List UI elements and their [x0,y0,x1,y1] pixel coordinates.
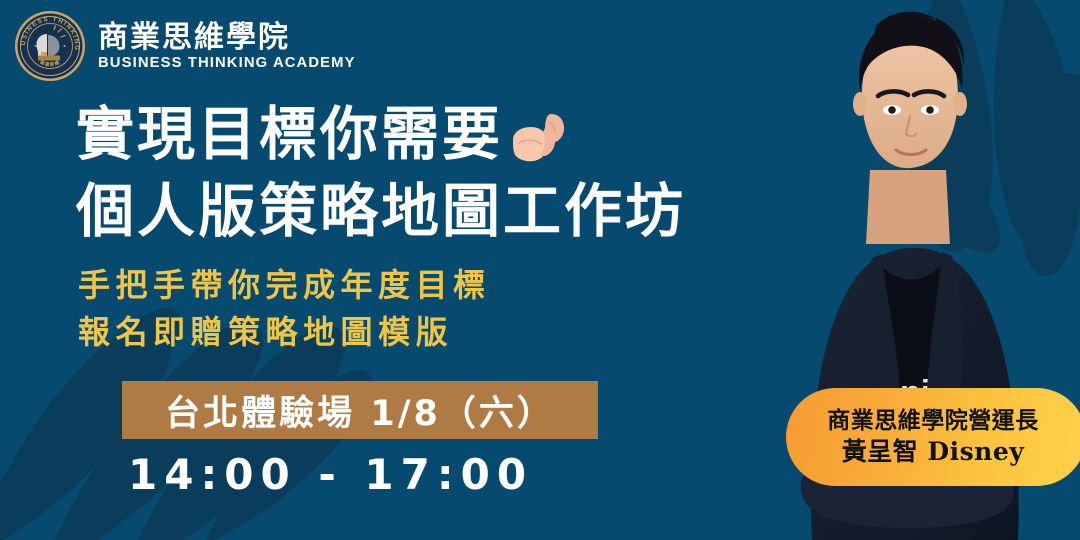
session-badge: 台北體驗場 1/8（六） [122,381,598,439]
academy-seal-svg: BUSINESS THINKING 商業思維 [14,10,86,82]
subtitle-block: 手把手帶你完成年度目標 報名即贈策略地圖模版 [78,262,491,357]
speaker-role: 商業思維學院營運長 [827,407,1039,434]
brand-logo-lockup: BUSINESS THINKING 商業思維 [14,10,351,82]
subtitle-line-1: 手把手帶你完成年度目標 [78,262,491,309]
session-time: 14:00 - 17:00 [128,450,533,499]
brand-name-en: BUSINESS THINKING ACADEMY [98,56,356,72]
brand-name-cn: 商業思維學院 [98,22,351,54]
headline-line-1: 實現目標你需要 [76,96,796,173]
headline-line-1-text: 實現目標你需要 [76,96,503,173]
speaker-name-plate: 商業思維學院營運長 黃呈智 Disney [786,388,1080,486]
headline-block: 實現目標你需要 個人版策略地圖工作坊 [76,96,796,249]
headline-line-2: 個人版策略地圖工作坊 [76,173,796,250]
brand-name-block: 商業思維學院 BUSINESS THINKING ACADEMY [98,20,351,72]
speaker-name: 黃呈智 Disney [842,437,1025,467]
flexed-biceps-icon [507,108,569,164]
headline-line-2-text: 個人版策略地圖工作坊 [76,173,686,250]
promo-banner: BUSINESS THINKING 商業思維 [0,0,1080,540]
flexed-biceps-svg [507,110,569,166]
academy-seal-icon: BUSINESS THINKING 商業思維 [14,10,86,82]
subtitle-line-2: 報名即贈策略地圖模版 [78,309,491,356]
session-badge-label: 台北體驗場 1/8（六） [165,385,555,436]
